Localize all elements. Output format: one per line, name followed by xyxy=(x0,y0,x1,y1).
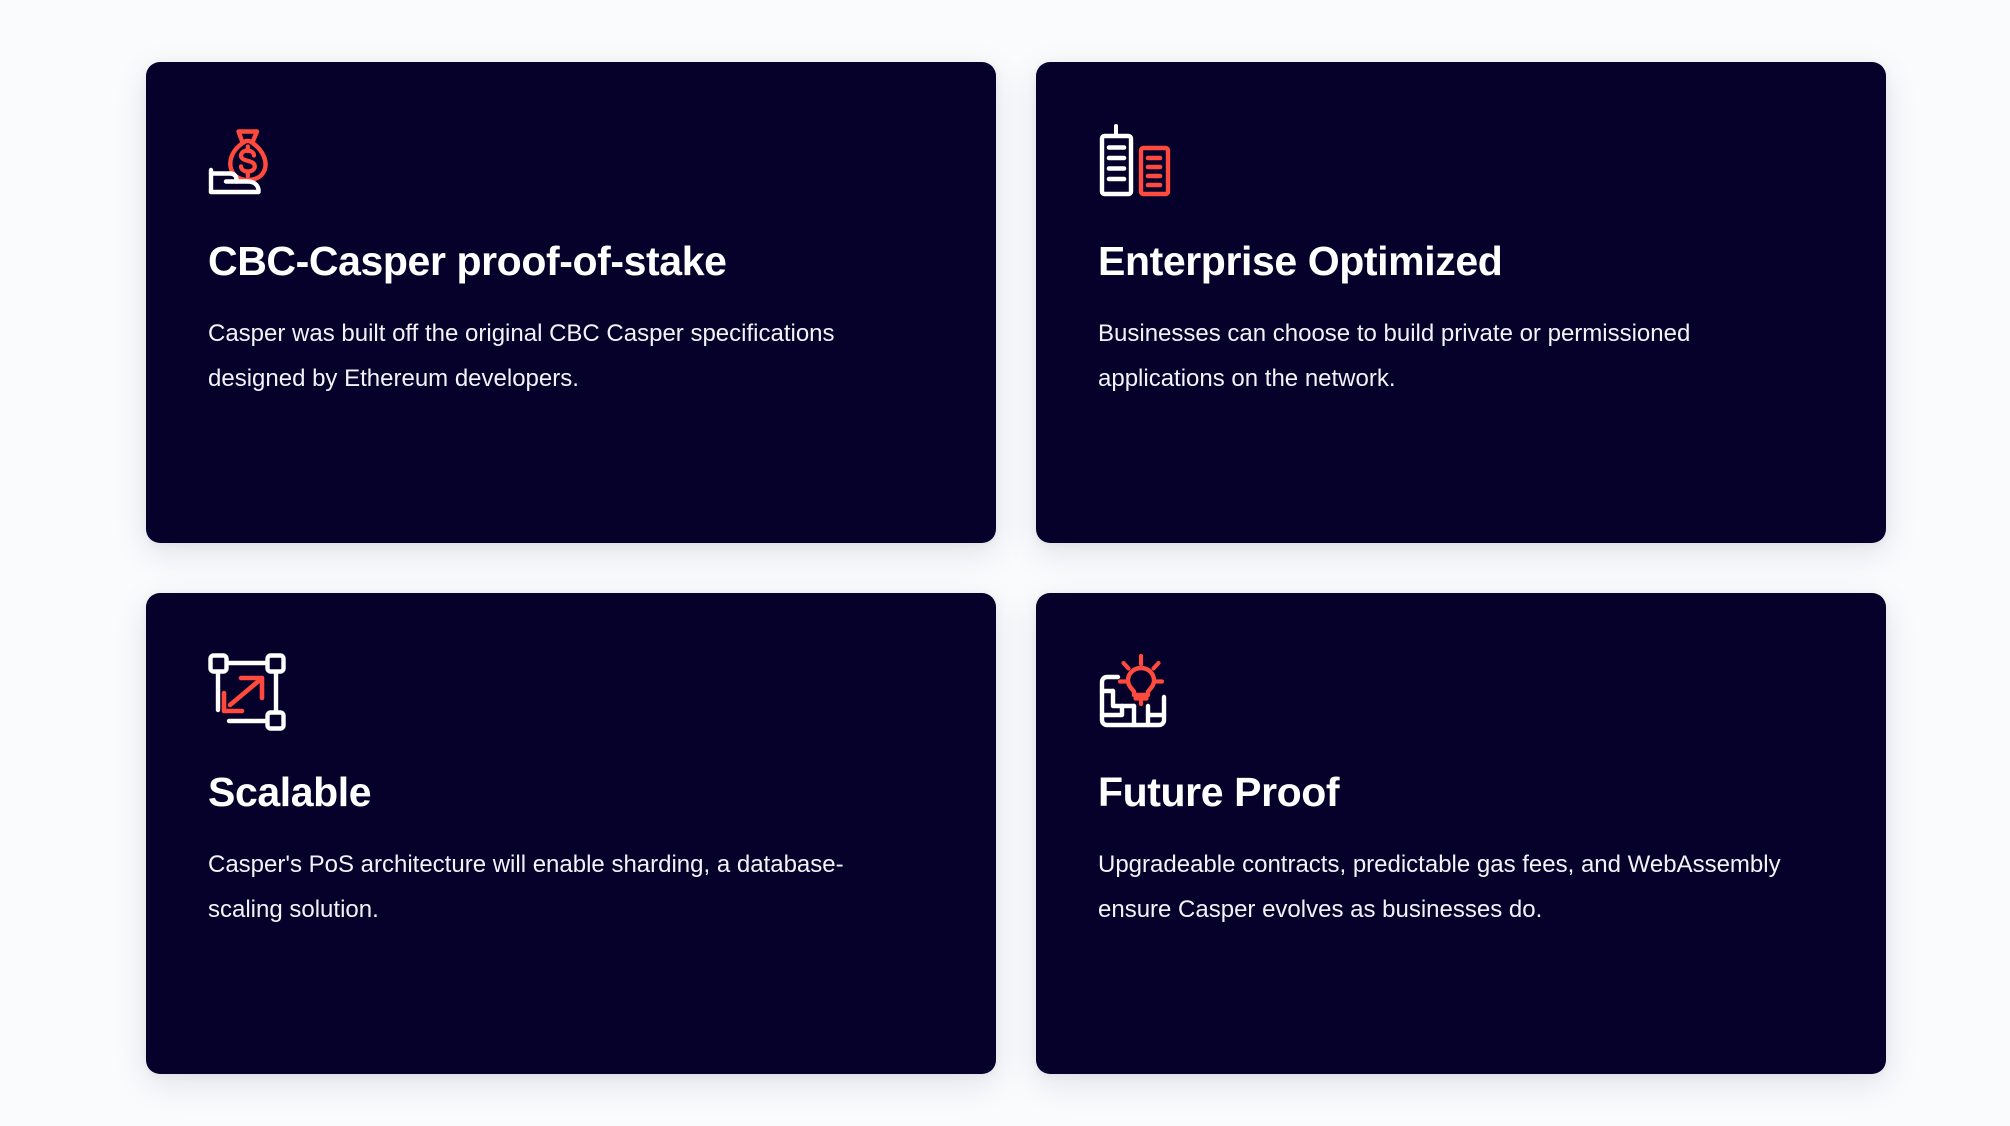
office-buildings-icon xyxy=(1098,122,1176,200)
card-description: Casper's PoS architecture will enable sh… xyxy=(208,842,898,932)
card-title: CBC-Casper proof-of-stake xyxy=(208,238,934,285)
card-title: Future Proof xyxy=(1098,769,1824,816)
card-description: Casper was built off the original CBC Ca… xyxy=(208,311,898,401)
feature-card-scalable[interactable]: Scalable Casper's PoS architecture will … xyxy=(146,593,996,1074)
feature-card-enterprise-optimized[interactable]: Enterprise Optimized Businesses can choo… xyxy=(1036,62,1886,543)
feature-card-cbc-casper-proof-of-stake[interactable]: CBC-Casper proof-of-stake Casper was bui… xyxy=(146,62,996,543)
card-description: Upgradeable contracts, predictable gas f… xyxy=(1098,842,1788,932)
card-title: Scalable xyxy=(208,769,934,816)
feature-card-grid: CBC-Casper proof-of-stake Casper was bui… xyxy=(146,62,1886,1074)
scale-resize-arrow-icon xyxy=(208,653,286,731)
feature-card-future-proof[interactable]: Future Proof Upgradeable contracts, pred… xyxy=(1036,593,1886,1074)
card-title: Enterprise Optimized xyxy=(1098,238,1824,285)
blueprint-lightbulb-icon xyxy=(1098,653,1176,731)
money-bag-hand-icon xyxy=(208,122,286,200)
card-description: Businesses can choose to build private o… xyxy=(1098,311,1788,401)
